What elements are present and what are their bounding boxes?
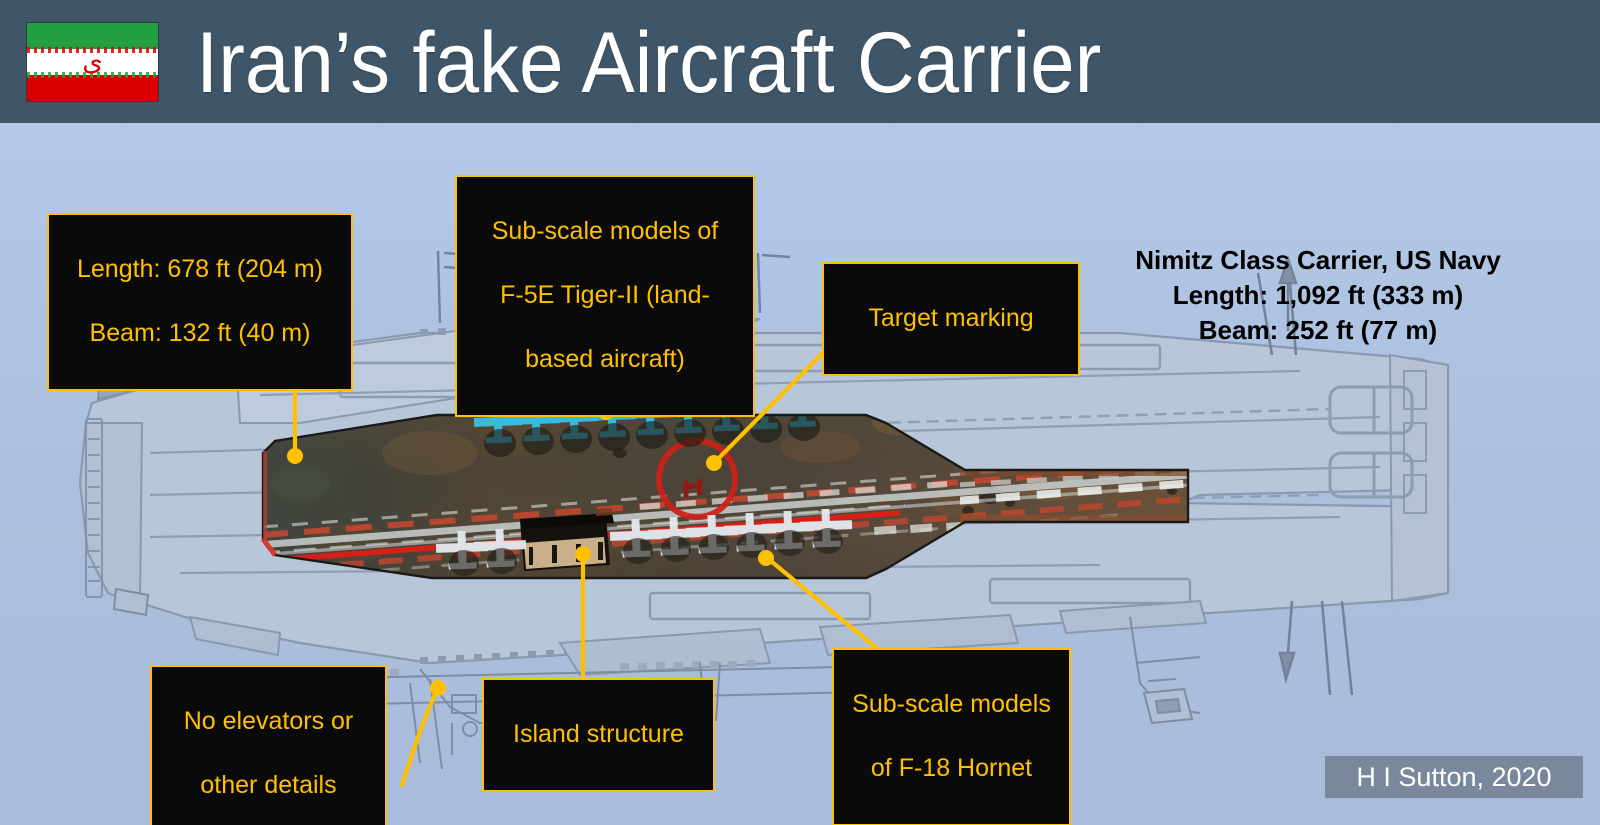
callout-line: F-5E Tiger-II (land- [470, 279, 740, 311]
infographic-canvas: ی Iran’s fake Aircraft Carrier Length: 6… [0, 0, 1600, 825]
flag-band-red [27, 75, 158, 101]
callout-line: Length: 678 ft (204 m) [62, 253, 338, 285]
iran-flag-icon: ی [26, 22, 159, 102]
page-title: Iran’s fake Aircraft Carrier [196, 12, 1101, 114]
callout-f5e-models: Sub-scale models of F-5E Tiger-II (land-… [455, 175, 755, 417]
header-bar: ی Iran’s fake Aircraft Carrier [0, 0, 1600, 123]
callout-island-structure: Island structure [482, 678, 715, 792]
callout-line: Target marking [837, 302, 1065, 334]
flag-emblem-icon: ی [82, 49, 102, 75]
nimitz-spec-line: Nimitz Class Carrier, US Navy [1118, 243, 1518, 278]
callout-target-marking: Target marking [822, 262, 1080, 376]
callout-line: other details [165, 769, 372, 801]
callout-length-beam: Length: 678 ft (204 m) Beam: 132 ft (40 … [47, 213, 353, 391]
callout-line: based aircraft) [470, 343, 740, 375]
flag-band-green [27, 23, 158, 49]
callout-line: Beam: 132 ft (40 m) [62, 317, 338, 349]
callout-line: Island structure [497, 718, 700, 750]
callout-f18-models: Sub-scale models of F-18 Hornet [832, 648, 1071, 825]
callout-line: No elevators or [165, 705, 372, 737]
nimitz-spec-line: Beam: 252 ft (77 m) [1118, 313, 1518, 348]
callout-line: Sub-scale models of [470, 215, 740, 247]
nimitz-class-specs: Nimitz Class Carrier, US Navy Length: 1,… [1118, 243, 1518, 348]
callout-line: of F-18 Hornet [847, 752, 1056, 784]
callout-no-elevators: No elevators or other details [150, 665, 387, 825]
nimitz-spec-line: Length: 1,092 ft (333 m) [1118, 278, 1518, 313]
credit-watermark: H I Sutton, 2020 [1325, 756, 1583, 798]
callout-line: Sub-scale models [847, 688, 1056, 720]
